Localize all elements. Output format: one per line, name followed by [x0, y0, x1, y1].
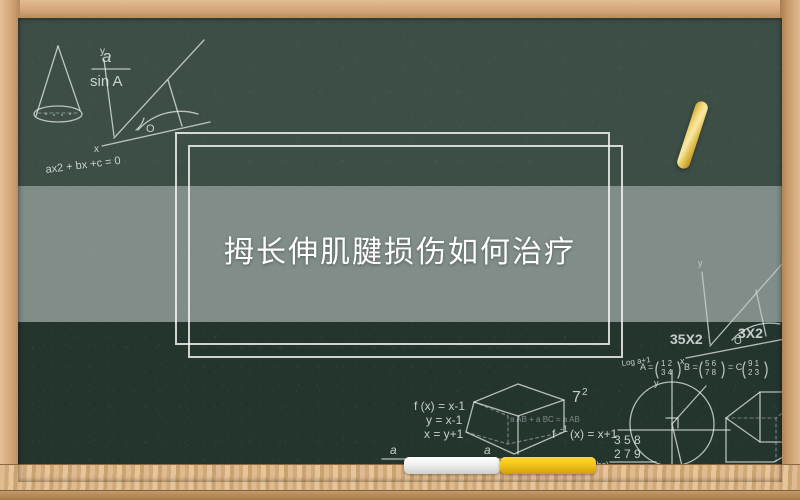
yellow-chalk-floating	[676, 100, 710, 171]
svg-text:Log a+1: Log a+1	[621, 355, 652, 368]
ledge-lip	[0, 490, 800, 500]
multiplication-labels-right: 35X2 3X2	[670, 325, 763, 347]
svg-text:35X2: 35X2	[670, 331, 703, 347]
log-label-right: Log a+1	[621, 355, 652, 368]
svg-text:x: x	[680, 356, 685, 366]
cube-bottom-right	[726, 392, 782, 462]
svg-text:x: x	[94, 144, 99, 155]
vector-sum-expression: a AB + a BC = a AB	[510, 415, 580, 424]
svg-text:ax2 + bx +c = 0: ax2 + bx +c = 0	[45, 155, 121, 176]
frame-right-edge	[780, 0, 800, 500]
title-container: 拇长伸肌腱损伤如何治疗	[18, 18, 782, 465]
svg-text:2 7 9: 2 7 9	[614, 447, 641, 461]
frame-top-edge	[0, 0, 800, 20]
title-backdrop-band	[18, 186, 782, 322]
svg-text:7 8: 7 8	[705, 368, 717, 377]
circle-with-radii: y	[618, 370, 730, 465]
fraction-a-over-sina-topleft: a sin A	[90, 47, 130, 90]
chalkboard-cover: a sin A ax2 + bx +c = 0 y x	[0, 0, 800, 500]
blackboard-surface: a sin A ax2 + bx +c = 0 y x	[18, 18, 782, 465]
svg-text:a AB + a BC = a AB: a AB + a BC = a AB	[510, 415, 580, 424]
svg-text:a: a	[390, 443, 397, 457]
svg-text:a: a	[102, 47, 111, 66]
svg-text:y: y	[100, 46, 105, 57]
svg-text:y = x-1: y = x-1	[426, 413, 463, 427]
svg-text:3 5 8: 3 5 8	[614, 433, 641, 447]
svg-text:f (x) = x-1: f (x) = x-1	[414, 399, 465, 413]
svg-text:y: y	[654, 378, 659, 388]
svg-text:3X2: 3X2	[738, 325, 763, 341]
chalk-ledge	[0, 464, 800, 500]
svg-text:2: 2	[582, 387, 588, 398]
svg-text:sin A: sin A	[90, 73, 123, 90]
svg-text:x = y+1: x = y+1	[424, 427, 464, 441]
cone-drawing	[34, 46, 82, 122]
angle-diagram-right: O y x	[680, 258, 782, 366]
svg-text:B =: B =	[684, 362, 698, 372]
svg-text:2 3: 2 3	[748, 368, 760, 377]
svg-text:a: a	[484, 443, 491, 457]
svg-text:1 2: 1 2	[661, 359, 673, 368]
white-chalk-on-ledge	[404, 457, 500, 474]
page-title: 拇长伸肌腱损伤如何治疗	[224, 227, 576, 271]
board-upper-wash	[18, 18, 782, 186]
svg-text:-1: -1	[560, 424, 568, 434]
decorative-rectangle-outer	[175, 132, 610, 345]
svg-text:(x) = x+1: (x) = x+1	[570, 427, 618, 441]
svg-text:5 6: 5 6	[705, 359, 717, 368]
addition-column: 3 5 8 2 7 9 6 3 7	[610, 433, 656, 465]
yellow-chalk-on-ledge	[500, 457, 596, 474]
function-equations-bottomcenter: f (x) = x-1 y = x-1 x = y+1	[414, 399, 465, 441]
svg-text:= C: = C	[728, 362, 743, 372]
svg-text:O: O	[734, 336, 742, 347]
frame-left-edge	[0, 0, 20, 500]
angle-diagram-topleft: y x O	[94, 40, 210, 155]
quadratic-equation-topleft: ax2 + bx +c = 0	[45, 155, 121, 176]
decorative-rectangle-inner	[188, 145, 623, 358]
svg-text:y: y	[698, 258, 703, 268]
svg-text:f: f	[552, 427, 556, 441]
svg-text:A =: A =	[640, 362, 653, 372]
seven-squared: 7 2	[572, 387, 588, 406]
inverse-function-expression: f -1 (x) = x+1	[552, 424, 618, 441]
svg-text:O: O	[146, 123, 155, 135]
chalk-drawings: a sin A ax2 + bx +c = 0 y x	[18, 18, 782, 465]
board-texture	[18, 18, 782, 465]
svg-text:9 1: 9 1	[748, 359, 760, 368]
svg-text:3 4: 3 4	[661, 368, 673, 377]
svg-text:7: 7	[572, 389, 581, 406]
cube-bottom-center	[466, 384, 564, 454]
matrix-row-right: A = 1 2 3 4 B = 5 6 7 8 = C 9 1 2 3	[640, 359, 767, 378]
